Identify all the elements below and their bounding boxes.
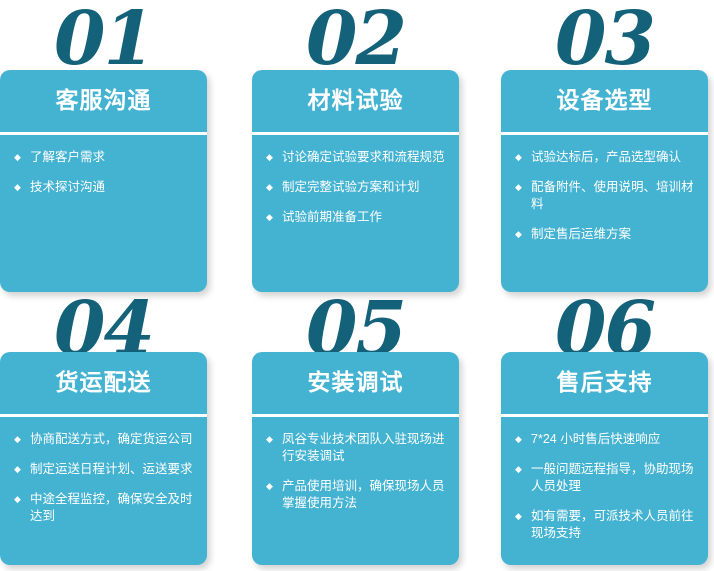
list-item: ◆ 7*24 小时售后快速响应: [515, 431, 698, 448]
list-item: ◆ 凤谷专业技术团队入驻现场进行安装调试: [266, 431, 449, 465]
diamond-bullet-icon: ◆: [266, 149, 282, 166]
diamond-bullet-icon: ◆: [266, 179, 282, 196]
step-card-05[interactable]: 安装调试 ◆ 凤谷专业技术团队入驻现场进行安装调试 ◆ 产品使用培训，确保现场人…: [252, 352, 459, 565]
diamond-bullet-icon: ◆: [266, 478, 282, 495]
step-card-06[interactable]: 售后支持 ◆ 7*24 小时售后快速响应 ◆ 一般问题远程指导，协助现场人员处理…: [501, 352, 708, 565]
step-bullet-list-04: ◆ 协商配送方式，确定货运公司 ◆ 制定运送日程计划、运送要求 ◆ 中途全程监控…: [0, 417, 207, 535]
list-item: ◆ 技术探讨沟通: [14, 179, 197, 196]
list-item: ◆ 制定售后运维方案: [515, 226, 698, 243]
diamond-bullet-icon: ◆: [515, 431, 531, 448]
diamond-bullet-icon: ◆: [14, 149, 30, 166]
list-item: ◆ 一般问题远程指导，协助现场人员处理: [515, 461, 698, 495]
step-title-05: 安装调试: [252, 352, 459, 414]
step-bullet-list-05: ◆ 凤谷专业技术团队入驻现场进行安装调试 ◆ 产品使用培训，确保现场人员掌握使用…: [252, 417, 459, 522]
list-item: ◆ 协商配送方式，确定货运公司: [14, 431, 197, 448]
step-title-01: 客服沟通: [0, 70, 207, 132]
step-title-04: 货运配送: [0, 352, 207, 414]
step-bullet-list-03: ◆ 试验达标后，产品选型确认 ◆ 配备附件、使用说明、培训材料 ◆ 制定售后运维…: [501, 135, 708, 253]
list-item: ◆ 产品使用培训，确保现场人员掌握使用方法: [266, 478, 449, 512]
step-bullet-list-06: ◆ 7*24 小时售后快速响应 ◆ 一般问题远程指导，协助现场人员处理 ◆ 如有…: [501, 417, 708, 552]
list-item-label: 协商配送方式，确定货运公司: [30, 431, 197, 448]
list-item-label: 一般问题远程指导，协助现场人员处理: [531, 461, 698, 495]
step-cell-06: 06 售后支持 ◆ 7*24 小时售后快速响应 ◆ 一般问题远程指导，协助现场人…: [501, 260, 708, 566]
list-item-label: 试验达标后，产品选型确认: [531, 149, 698, 166]
step-card-02[interactable]: 材料试验 ◆ 讨论确定试验要求和流程规范 ◆ 制定完整试验方案和计划 ◆ 试验前…: [252, 70, 459, 292]
step-cell-04: 04 货运配送 ◆ 协商配送方式，确定货运公司 ◆ 制定运送日程计划、运送要求 …: [0, 260, 207, 566]
diamond-bullet-icon: ◆: [515, 149, 531, 166]
list-item-label: 7*24 小时售后快速响应: [531, 431, 698, 448]
step-title-06: 售后支持: [501, 352, 708, 414]
list-item-label: 中途全程监控，确保安全及时达到: [30, 491, 197, 525]
step-number-03: 03: [501, 2, 708, 76]
list-item-label: 制定完整试验方案和计划: [282, 179, 449, 196]
diamond-bullet-icon: ◆: [515, 179, 531, 196]
step-number-01: 01: [0, 2, 207, 76]
step-cell-02: 02 材料试验 ◆ 讨论确定试验要求和流程规范 ◆ 制定完整试验方案和计划 ◆ …: [252, 0, 459, 292]
list-item-label: 了解客户需求: [30, 149, 197, 166]
list-item: ◆ 如有需要，可派技术人员前往现场支持: [515, 508, 698, 542]
list-item: ◆ 中途全程监控，确保安全及时达到: [14, 491, 197, 525]
process-steps-board: 01 客服沟通 ◆ 了解客户需求 ◆ 技术探讨沟通 02 材料试验: [0, 0, 714, 571]
step-cell-03: 03 设备选型 ◆ 试验达标后，产品选型确认 ◆ 配备附件、使用说明、培训材料 …: [501, 0, 708, 292]
diamond-bullet-icon: ◆: [14, 179, 30, 196]
list-item-label: 技术探讨沟通: [30, 179, 197, 196]
diamond-bullet-icon: ◆: [14, 461, 30, 478]
step-cell-01: 01 客服沟通 ◆ 了解客户需求 ◆ 技术探讨沟通: [0, 0, 207, 292]
diamond-bullet-icon: ◆: [14, 491, 30, 508]
list-item: ◆ 讨论确定试验要求和流程规范: [266, 149, 449, 166]
step-card-01[interactable]: 客服沟通 ◆ 了解客户需求 ◆ 技术探讨沟通: [0, 70, 207, 292]
step-title-03: 设备选型: [501, 70, 708, 132]
step-number-02: 02: [252, 2, 459, 76]
list-item-label: 产品使用培训，确保现场人员掌握使用方法: [282, 478, 449, 512]
list-item: ◆ 制定运送日程计划、运送要求: [14, 461, 197, 478]
diamond-bullet-icon: ◆: [266, 209, 282, 226]
step-bullet-list-01: ◆ 了解客户需求 ◆ 技术探讨沟通: [0, 135, 207, 206]
step-card-03[interactable]: 设备选型 ◆ 试验达标后，产品选型确认 ◆ 配备附件、使用说明、培训材料 ◆ 制…: [501, 70, 708, 292]
diamond-bullet-icon: ◆: [266, 431, 282, 448]
step-card-04[interactable]: 货运配送 ◆ 协商配送方式，确定货运公司 ◆ 制定运送日程计划、运送要求 ◆ 中…: [0, 352, 207, 565]
diamond-bullet-icon: ◆: [515, 461, 531, 478]
step-cell-05: 05 安装调试 ◆ 凤谷专业技术团队入驻现场进行安装调试 ◆ 产品使用培训，确保…: [252, 260, 459, 566]
list-item-label: 讨论确定试验要求和流程规范: [282, 149, 449, 166]
list-item: ◆ 试验前期准备工作: [266, 209, 449, 226]
list-item: ◆ 制定完整试验方案和计划: [266, 179, 449, 196]
list-item-label: 制定运送日程计划、运送要求: [30, 461, 197, 478]
list-item-label: 制定售后运维方案: [531, 226, 698, 243]
diamond-bullet-icon: ◆: [515, 226, 531, 243]
diamond-bullet-icon: ◆: [14, 431, 30, 448]
list-item-label: 如有需要，可派技术人员前往现场支持: [531, 508, 698, 542]
list-item-label: 试验前期准备工作: [282, 209, 449, 226]
list-item: ◆ 了解客户需求: [14, 149, 197, 166]
list-item: ◆ 配备附件、使用说明、培训材料: [515, 179, 698, 213]
list-item: ◆ 试验达标后，产品选型确认: [515, 149, 698, 166]
step-title-02: 材料试验: [252, 70, 459, 132]
diamond-bullet-icon: ◆: [515, 508, 531, 525]
list-item-label: 凤谷专业技术团队入驻现场进行安装调试: [282, 431, 449, 465]
list-item-label: 配备附件、使用说明、培训材料: [531, 179, 698, 213]
step-bullet-list-02: ◆ 讨论确定试验要求和流程规范 ◆ 制定完整试验方案和计划 ◆ 试验前期准备工作: [252, 135, 459, 236]
